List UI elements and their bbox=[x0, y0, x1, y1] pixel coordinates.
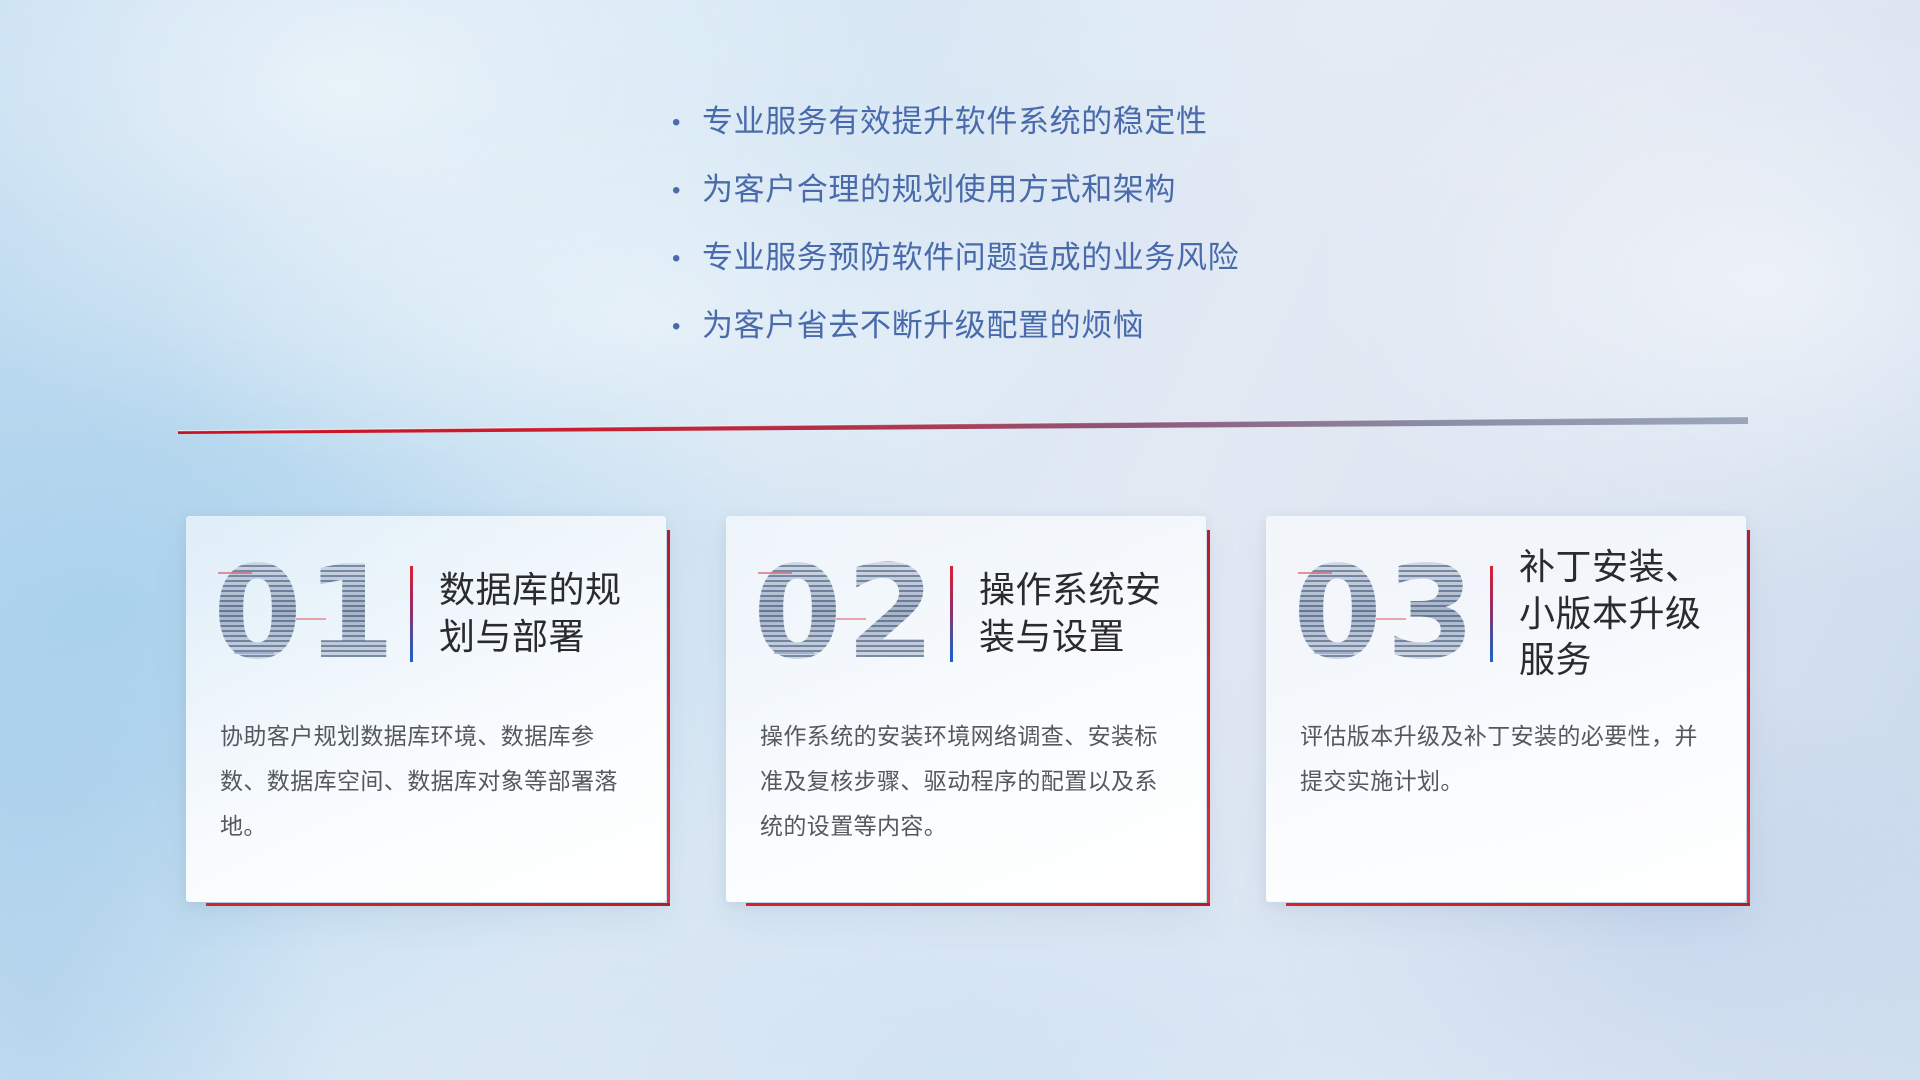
card-title: 补丁安装、小版本升级服务 bbox=[1519, 544, 1746, 684]
card-accent-bottom bbox=[1286, 903, 1750, 906]
bullet-text: 专业服务预防软件问题造成的业务风险 bbox=[702, 232, 1239, 277]
card-body-text: 协助客户规划数据库环境、数据库参数、数据库空间、数据库对象等部署落地。 bbox=[220, 714, 636, 849]
card-header: 01 数据库的规划与部署 bbox=[186, 516, 666, 712]
bullet-text: 专业服务有效提升软件系统的稳定性 bbox=[702, 96, 1208, 141]
bullet-dot-icon: • bbox=[672, 315, 702, 339]
card-title: 数据库的规划与部署 bbox=[439, 567, 666, 661]
card-title-divider bbox=[410, 566, 413, 662]
service-card-02[interactable]: 02 操作系统安装与设置 操作系统的安装环境网络调查、安装标准及复核步骤、驱动程… bbox=[726, 516, 1206, 902]
card-body-text: 评估版本升级及补丁安装的必要性，并提交实施计划。 bbox=[1300, 714, 1716, 804]
list-item: • 为客户省去不断升级配置的烦恼 bbox=[672, 300, 1572, 368]
card-title: 操作系统安装与设置 bbox=[979, 567, 1206, 661]
service-card-01[interactable]: 01 数据库的规划与部署 协助客户规划数据库环境、数据库参数、数据库空间、数据库… bbox=[186, 516, 666, 902]
card-title-divider bbox=[950, 566, 953, 662]
service-card-03[interactable]: 03 补丁安装、小版本升级服务 评估版本升级及补丁安装的必要性，并提交实施计划。 bbox=[1266, 516, 1746, 902]
card-header: 03 补丁安装、小版本升级服务 bbox=[1266, 516, 1746, 712]
bullet-text: 为客户合理的规划使用方式和架构 bbox=[702, 164, 1176, 209]
bullet-dot-icon: • bbox=[672, 247, 702, 271]
slide-canvas: • 专业服务有效提升软件系统的稳定性 • 为客户合理的规划使用方式和架构 • 专… bbox=[0, 0, 1920, 1080]
bullet-dot-icon: • bbox=[672, 179, 702, 203]
card-number-text: 02 bbox=[753, 550, 939, 678]
section-divider bbox=[178, 414, 1748, 436]
card-title-divider bbox=[1490, 566, 1493, 662]
card-number-text: 03 bbox=[1293, 550, 1479, 678]
benefit-bullet-list: • 专业服务有效提升软件系统的稳定性 • 为客户合理的规划使用方式和架构 • 专… bbox=[672, 96, 1572, 368]
card-number-watermark: 02 bbox=[748, 544, 944, 684]
card-number-watermark: 03 bbox=[1288, 544, 1484, 684]
bullet-text: 为客户省去不断升级配置的烦恼 bbox=[702, 300, 1144, 345]
card-body-text: 操作系统的安装环境网络调查、安装标准及复核步骤、驱动程序的配置以及系统的设置等内… bbox=[760, 714, 1176, 849]
list-item: • 为客户合理的规划使用方式和架构 bbox=[672, 164, 1572, 232]
bullet-dot-icon: • bbox=[672, 111, 702, 135]
card-number-watermark: 01 bbox=[208, 544, 404, 684]
card-accent-right bbox=[1747, 530, 1750, 906]
card-accent-right bbox=[1207, 530, 1210, 906]
list-item: • 专业服务预防软件问题造成的业务风险 bbox=[672, 232, 1572, 300]
service-card-group: 01 数据库的规划与部署 协助客户规划数据库环境、数据库参数、数据库空间、数据库… bbox=[186, 516, 1746, 910]
list-item: • 专业服务有效提升软件系统的稳定性 bbox=[672, 96, 1572, 164]
card-number-text: 01 bbox=[213, 550, 399, 678]
card-header: 02 操作系统安装与设置 bbox=[726, 516, 1206, 712]
card-accent-bottom bbox=[746, 903, 1210, 906]
card-accent-right bbox=[667, 530, 670, 906]
card-accent-bottom bbox=[206, 903, 670, 906]
